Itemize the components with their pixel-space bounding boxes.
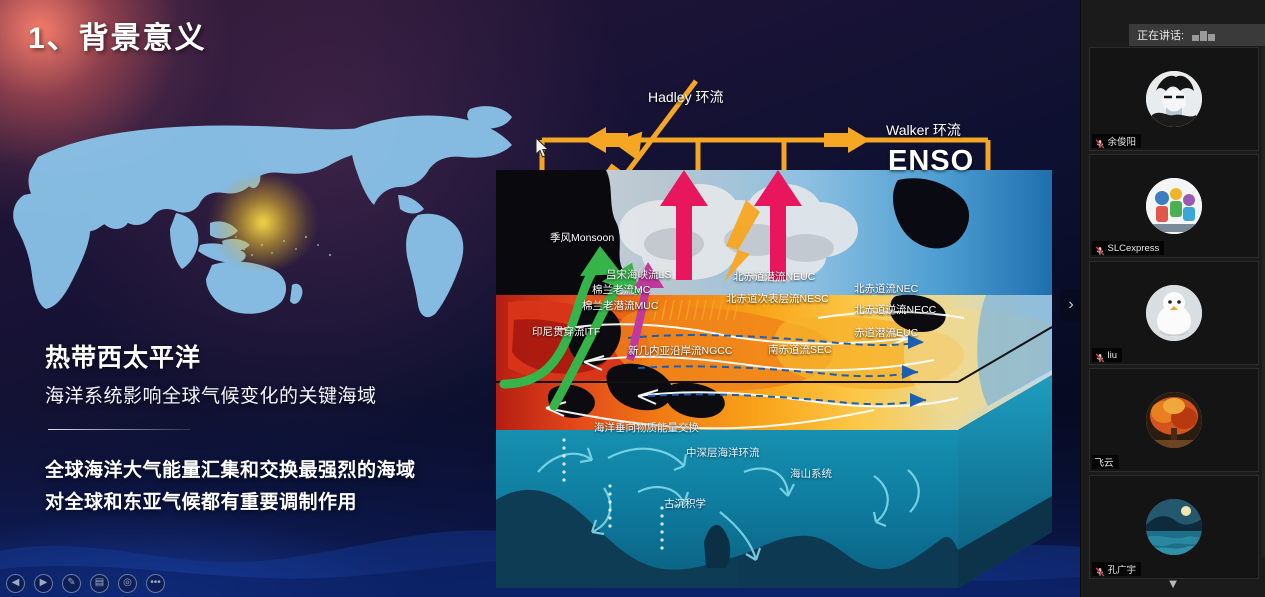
current-label: 新几内亚沿岸流NGCC: [628, 343, 732, 358]
body-line-2: 对全球和东亚气候都有重要调制作用: [45, 487, 357, 514]
mouse-cursor: [536, 138, 550, 158]
participant-tile[interactable]: SLCexpress: [1089, 154, 1259, 258]
zoom-button[interactable]: ◎: [118, 574, 137, 593]
current-label: 南赤道流SEC: [768, 342, 832, 357]
participant-name-chip: liu: [1092, 348, 1123, 362]
pointer-icon: ▶: [40, 578, 48, 588]
chevron-down-icon: ▼: [1167, 576, 1180, 591]
previous-slide-button[interactable]: ◀: [6, 574, 25, 593]
more-options-icon: •••: [150, 578, 161, 588]
current-label: 印尼贯穿流ITF: [532, 324, 600, 339]
avatar: [1146, 285, 1202, 341]
deep-ocean-label: 古沉积学: [664, 496, 706, 511]
hadley-circulation-label: Hadley 环流: [648, 87, 723, 107]
lead-heading: 热带西太平洋: [45, 338, 201, 374]
deep-ocean-label: 中深层海洋环流: [686, 445, 760, 460]
participant-name: SLCexpress: [1108, 243, 1160, 254]
previous-slide-icon: ◀: [12, 578, 20, 588]
lead-subheading: 海洋系统影响全球气候变化的关键海域: [45, 381, 377, 408]
microphone-muted-icon: [1095, 564, 1105, 574]
participant-name: 孔广宇: [1108, 562, 1137, 576]
avatar: [1146, 392, 1202, 448]
body-line-1: 全球海洋大气能量汇集和交换最强烈的海域: [45, 455, 416, 482]
western-pacific-highlight-glow: [208, 175, 318, 270]
participant-tile-list[interactable]: 余俊阳SLCexpressliu飞云孔广宇: [1081, 47, 1265, 582]
chevron-right-icon: ›: [1068, 296, 1073, 314]
pointer-button[interactable]: ▶: [34, 574, 53, 593]
speaking-label: 正在讲话:: [1137, 27, 1184, 43]
participant-name: 余俊阳: [1108, 134, 1137, 148]
participant-name-chip: 余俊阳: [1092, 134, 1142, 148]
avatar: [1146, 71, 1202, 127]
microphone-muted-icon: [1095, 136, 1105, 146]
participant-name-chip: SLCexpress: [1092, 241, 1165, 255]
participant-tile[interactable]: liu: [1089, 261, 1259, 365]
participant-name: 飞云: [1095, 455, 1114, 469]
slide-grid-button[interactable]: ▤: [90, 574, 109, 593]
speaking-status-bar: 正在讲话:: [1129, 24, 1265, 46]
enso-label: ENSO: [888, 145, 974, 178]
current-label: 赤道潜流EUC: [854, 325, 918, 340]
presenter-toolbar[interactable]: ◀▶✎▤◎•••: [6, 571, 165, 595]
current-label: 棉兰老流MC: [592, 282, 650, 297]
page-title: 1、背景意义: [28, 13, 207, 57]
current-label: 北赤道流NEC: [854, 281, 918, 296]
deep-ocean-label: 海山系统: [790, 466, 832, 481]
ocean-circulation-diagram: Hadley 环流 Walker 环流 ENSO 季风Monsoon吕宋海峡流L…: [488, 55, 1068, 545]
avatar: [1146, 499, 1202, 555]
divider-rule: [48, 429, 190, 430]
pen-tool-button[interactable]: ✎: [62, 574, 81, 593]
walker-circulation-label: Walker 环流: [886, 120, 961, 140]
slide-grid-icon: ▤: [95, 578, 104, 588]
participant-tile[interactable]: 飞云: [1089, 368, 1259, 472]
more-options-button[interactable]: •••: [146, 574, 165, 593]
current-label: 吕宋海峡流LS: [606, 267, 671, 282]
participant-tile[interactable]: 余俊阳: [1089, 47, 1259, 151]
participant-panel: 正在讲话: 余俊阳SLCexpressliu飞云孔广宇 ▼: [1080, 0, 1265, 597]
scroll-down-button[interactable]: ▼: [1081, 576, 1265, 591]
microphone-muted-icon: [1095, 350, 1105, 360]
audio-wave-icon: [1192, 30, 1215, 41]
current-label: 棉兰老潜流MUC: [582, 298, 658, 313]
pen-tool-icon: ✎: [67, 578, 75, 588]
current-label: 北赤道逆流NECC: [854, 302, 936, 317]
participant-tile[interactable]: 孔广宇: [1089, 475, 1259, 579]
participant-name-chip: 飞云: [1092, 455, 1119, 469]
current-label: 季风Monsoon: [550, 230, 614, 245]
microphone-muted-icon: [1095, 243, 1105, 253]
deep-ocean-label: 海洋垂向物质能量交换: [594, 420, 699, 435]
zoom-icon: ◎: [123, 578, 132, 588]
current-label: 北赤道次表层流NESC: [726, 291, 829, 306]
participant-name: liu: [1108, 350, 1118, 361]
participant-name-chip: 孔广宇: [1092, 562, 1142, 576]
current-label: 北赤道潜流NEUC: [733, 269, 815, 284]
next-slide-button[interactable]: ›: [1060, 289, 1080, 321]
screen-share-window: 1、背景意义 热带西太平洋 海洋系统影响全球气候变化的关键海域 全球海洋大气能量…: [0, 0, 1265, 597]
presentation-slide[interactable]: 1、背景意义 热带西太平洋 海洋系统影响全球气候变化的关键海域 全球海洋大气能量…: [0, 0, 1080, 597]
avatar: [1146, 178, 1202, 234]
